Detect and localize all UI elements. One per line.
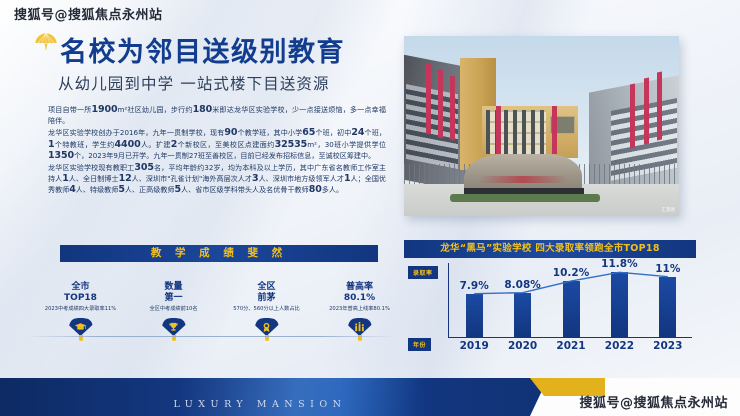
chart-x-tick: 2023 bbox=[653, 340, 682, 352]
stat-line1: 全市 bbox=[34, 282, 127, 293]
graduation-cap-icon bbox=[69, 318, 93, 342]
chart-x-tick: 2022 bbox=[605, 340, 634, 352]
p2-text-g: 个新校区，至美校区点建面约 bbox=[177, 140, 274, 149]
p1-num-1: 1900 bbox=[91, 104, 117, 115]
chart-plot-area: 录取率 年份 7.9%8.08%10.2%11.8%11% 2019202020… bbox=[404, 258, 696, 358]
p2-text-i: 个，2023年9月已开学。九年一贯制27班至善校区，目前已经发布招标信息，至诚校… bbox=[74, 151, 375, 160]
watermark-top: 搜狐号@搜狐焦点永州站 bbox=[14, 4, 163, 23]
footer-brand: LUXURY MANSION bbox=[0, 399, 520, 410]
p1-text-a: 项目自带一所 bbox=[48, 105, 91, 114]
page-title: 名校为邻目送级别教育 bbox=[60, 30, 345, 69]
page-subtitle: 从幼儿园到中学 一站式楼下目送资源 bbox=[58, 72, 330, 94]
bar-chart-icon bbox=[348, 318, 372, 342]
stat-line1: 数量 bbox=[127, 282, 220, 293]
p1-text-b: m²社区幼儿园，步行约 bbox=[118, 105, 193, 114]
stat-note: 2023年普高上线率80.1% bbox=[313, 305, 406, 314]
description-copy: 项目自带一所1900m²社区幼儿园，步行约180米即达龙华区实验学校，少一点接送… bbox=[48, 104, 386, 197]
stat-note: 2023中考成绩四大录取率11% bbox=[34, 305, 127, 314]
slide-root: 搜狐号@搜狐焦点永州站 名校为邻目送级别教育 从幼儿园到中学 一站式楼下目送资源… bbox=[0, 0, 740, 416]
stat-line2: 80.1% bbox=[313, 293, 406, 304]
stat-line2: TOP18 bbox=[34, 293, 127, 304]
p3-text-a: 龙华区实验学校现有教职工 bbox=[48, 163, 134, 172]
stat-line2: 第一 bbox=[127, 293, 220, 304]
p2-text-c: 个班，初中 bbox=[315, 128, 351, 137]
chart-x-tick: 2021 bbox=[556, 340, 585, 352]
p1-num-2: 180 bbox=[193, 104, 213, 115]
fan-shell-logo-icon bbox=[33, 30, 59, 56]
section-banner-academic-results: 教 学 成 绩 斐 然 bbox=[60, 245, 378, 262]
divider bbox=[26, 336, 396, 337]
chart-y-axis bbox=[448, 263, 449, 337]
p2-num-3: 24 bbox=[351, 127, 364, 138]
stat-line2: 前茅 bbox=[220, 293, 313, 304]
stat-item-district: 全区 前茅 570分、560分以上人数占比 bbox=[220, 282, 313, 342]
p2-text-f: 人。扩建 bbox=[141, 140, 171, 149]
chart-x-tick: 2019 bbox=[460, 340, 489, 352]
stats-row: 全市 TOP18 2023中考成绩四大录取率11% 数量 第一 全区中考成绩前1… bbox=[34, 282, 406, 342]
p2-text-b: 个教学班，其中小学 bbox=[237, 128, 302, 137]
p3-num-9: 80 bbox=[309, 184, 322, 195]
medal-icon bbox=[255, 318, 279, 342]
stat-item-highschool-rate: 普高率 80.1% 2023年普高上线率80.1% bbox=[313, 282, 406, 342]
p3-text-g: 人、特级教师 bbox=[76, 185, 119, 194]
paragraph-1: 项目自带一所1900m²社区幼儿园，步行约180米即达龙华区实验学校，少一点接送… bbox=[48, 104, 386, 126]
chart-x-tick-labels: 20192020202120222023 bbox=[450, 340, 692, 354]
paragraph-2: 龙华区实验学校创办于2016年，九年一贯制学校，现有90个教学班，其中小学65个… bbox=[48, 127, 386, 161]
p2-num-2: 65 bbox=[302, 127, 315, 138]
chart-y-axis-label: 录取率 bbox=[408, 266, 438, 279]
chart-x-axis bbox=[448, 337, 692, 338]
p2-text-a: 龙华区实验学校创办于2016年，九年一贯制学校，现有 bbox=[48, 128, 224, 137]
stat-item-quantity: 数量 第一 全区中考成绩前10名 bbox=[127, 282, 220, 342]
p2-num-5: 4400 bbox=[115, 139, 141, 150]
chart-trend-line bbox=[450, 263, 692, 337]
p3-num-3: 12 bbox=[119, 173, 132, 184]
p2-text-d: 个班， bbox=[364, 128, 386, 137]
p3-text-e: 人、深圳市地方级领军人才 bbox=[259, 174, 344, 183]
p3-text-h: 人、正高级教师 bbox=[125, 185, 175, 194]
p2-num-1: 90 bbox=[224, 127, 237, 138]
stat-note: 全区中考成绩前10名 bbox=[127, 305, 220, 314]
stat-line1: 普高率 bbox=[313, 282, 406, 293]
admission-rate-chart: 龙华“黑马”实验学校 四大录取率领跑全市TOP18 录取率 年份 7.9%8.0… bbox=[404, 240, 696, 358]
campus-photo: 汇景图 bbox=[404, 36, 679, 216]
chart-title: 龙华“黑马”实验学校 四大录取率领跑全市TOP18 bbox=[404, 240, 696, 258]
p3-text-d: 人、深圳市"孔雀计划"海外高层次人才 bbox=[132, 174, 252, 183]
p3-text-i: 人、省市区级学科带头人及名优骨干教师 bbox=[181, 185, 309, 194]
watermark-bottom: 搜狐号@搜狐焦点永州站 bbox=[579, 392, 728, 411]
p2-text-e: 个特教班，学生约 bbox=[55, 140, 115, 149]
stat-line1: 全区 bbox=[220, 282, 313, 293]
p2-num-8: 1350 bbox=[48, 150, 74, 161]
paragraph-3: 龙华区实验学校现有教职工305名，平均年龄约32岁，均为本科及以上学历，其中广东… bbox=[48, 162, 386, 196]
chart-x-axis-label: 年份 bbox=[408, 338, 431, 351]
p3-num-1: 305 bbox=[134, 162, 154, 173]
chart-x-tick: 2020 bbox=[508, 340, 537, 352]
photo-stamp: 汇景图 bbox=[662, 207, 676, 213]
p2-text-h: m²，30班小学提供学位 bbox=[307, 140, 386, 149]
p3-text-j: 多人。 bbox=[322, 185, 343, 194]
p2-num-7: 32535 bbox=[275, 139, 308, 150]
trophy-icon bbox=[162, 318, 186, 342]
stat-item-citywide: 全市 TOP18 2023中考成绩四大录取率11% bbox=[34, 282, 127, 342]
p3-text-c: 人、全日制博士 bbox=[69, 174, 119, 183]
stat-note: 570分、560分以上人数占比 bbox=[220, 305, 313, 314]
